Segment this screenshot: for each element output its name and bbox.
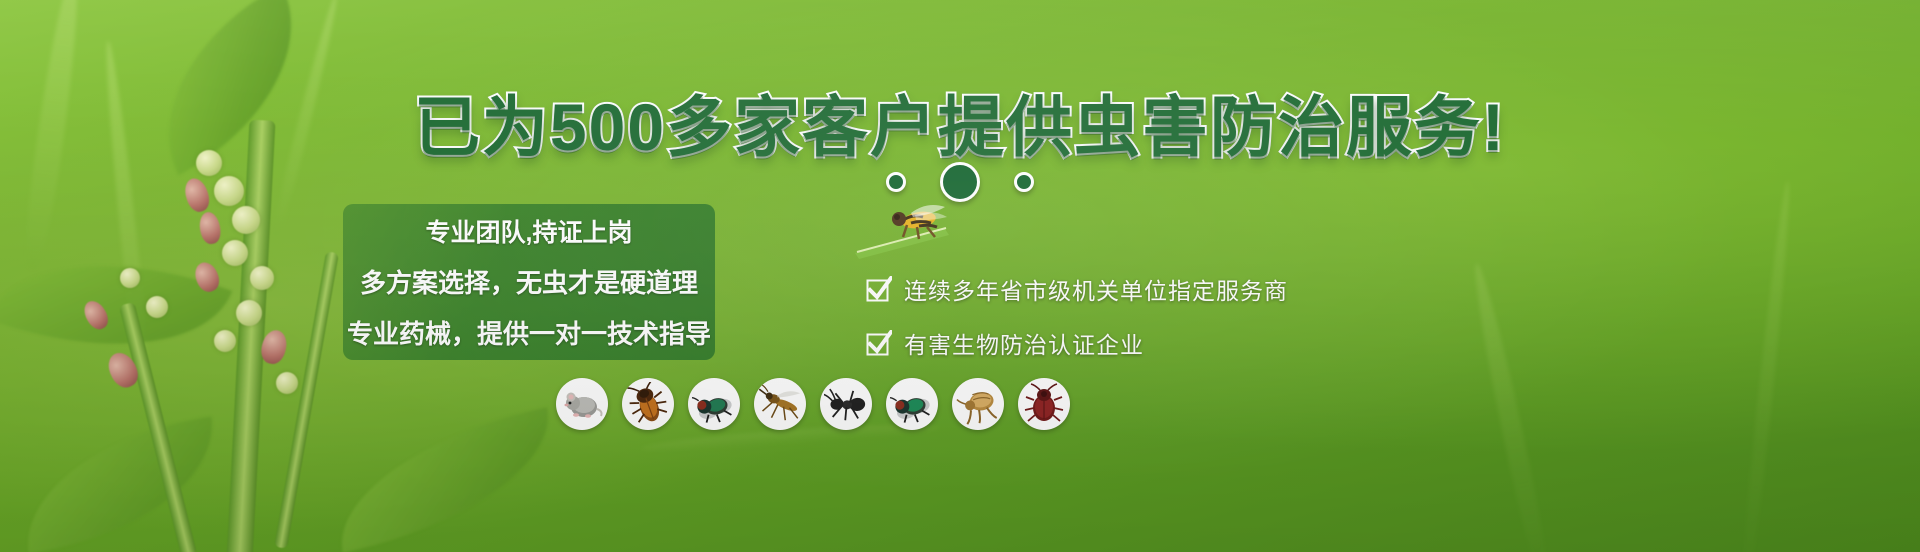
background-vignette [0, 0, 1920, 552]
pest-control-banner: 已为500多家客户提供虫害防治服务! 专业团队,持证上岗 多方案选择，无虫才是硬… [0, 0, 1920, 552]
